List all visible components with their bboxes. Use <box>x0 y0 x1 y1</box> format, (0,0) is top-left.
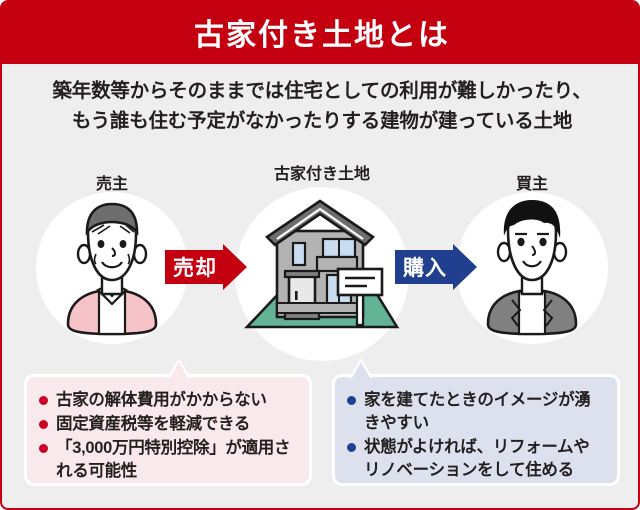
list-item-label: 固定資産税等を軽減できる <box>56 415 250 433</box>
list-item-label: 「3,000万円特別控除」が適用される可能性 <box>56 439 290 480</box>
list-item: 状態がよければ、リフォームやリノベーションをして住める <box>347 436 603 482</box>
list-item-label: 古家の解体費用がかからない <box>56 391 267 409</box>
seller-label: 売主 <box>37 170 187 194</box>
property-circle <box>235 187 409 361</box>
bullet-dot-icon <box>39 396 48 405</box>
buyer-circle <box>456 192 608 344</box>
list-item: 家を建てたときのイメージが湧きやすい <box>347 389 603 435</box>
buy-arrow-label: 購入 <box>403 252 447 282</box>
bullet-dot-icon <box>39 444 48 453</box>
seller-benefits-box: 古家の解体費用がかからない 固定資産税等を軽減できる 「3,000万円特別控除」… <box>24 374 312 486</box>
list-item-label: 状態がよければ、リフォームやリノベーションをして住める <box>364 438 589 479</box>
bullet-dot-icon <box>347 396 356 405</box>
definition-line-1: 築年数等からそのままでは住宅としての利用が難しかったり、 <box>2 76 640 106</box>
buyer-benefits-box: 家を建てたときのイメージが湧きやすい 状態がよければ、リフォームやリノベーション… <box>332 374 620 486</box>
sell-arrow-label: 売却 <box>173 252 217 282</box>
seller-benefits-list: 古家の解体費用がかからない 固定資産税等を軽減できる 「3,000万円特別控除」… <box>39 389 295 483</box>
property-label: 古家付き土地 <box>237 160 407 184</box>
definition-text: 築年数等からそのままでは住宅としての利用が難しかったり、 もう誰も住む予定がなか… <box>2 76 640 136</box>
seller-box-pointer <box>167 358 191 378</box>
page-title: 古家付き土地とは <box>194 10 450 54</box>
header-bar: 古家付き土地とは <box>0 0 640 64</box>
sell-arrow: 売却 <box>165 244 247 290</box>
buy-arrow: 購入 <box>395 244 477 290</box>
buy-arrow-body: 購入 <box>395 250 453 284</box>
list-item: 固定資産税等を軽減できる <box>39 413 295 436</box>
bullet-dot-icon <box>39 420 48 429</box>
young-man-avatar-icon <box>456 192 608 344</box>
buyer-box-pointer <box>349 358 373 378</box>
transaction-diagram: 売主 古家付き土地 買主 <box>2 162 640 362</box>
infographic-card: 古家付き土地とは 築年数等からそのままでは住宅としての利用が難しかったり、 もう… <box>0 0 640 510</box>
bullet-dot-icon <box>347 443 356 452</box>
two-story-house-icon <box>235 187 409 361</box>
list-item-label: 家を建てたときのイメージが湧きやすい <box>364 391 590 432</box>
list-item: 「3,000万円特別控除」が適用される可能性 <box>39 437 295 483</box>
buyer-label: 買主 <box>457 170 607 194</box>
sell-arrow-body: 売却 <box>165 250 223 284</box>
list-item: 古家の解体費用がかからない <box>39 389 295 412</box>
arrow-right-icon <box>453 244 477 290</box>
buyer-benefits-list: 家を建てたときのイメージが湧きやすい 状態がよければ、リフォームやリノベーション… <box>347 389 603 482</box>
definition-line-2: もう誰も住む予定がなかったりする建物が建っている土地 <box>2 106 640 136</box>
arrow-right-icon <box>223 244 247 290</box>
